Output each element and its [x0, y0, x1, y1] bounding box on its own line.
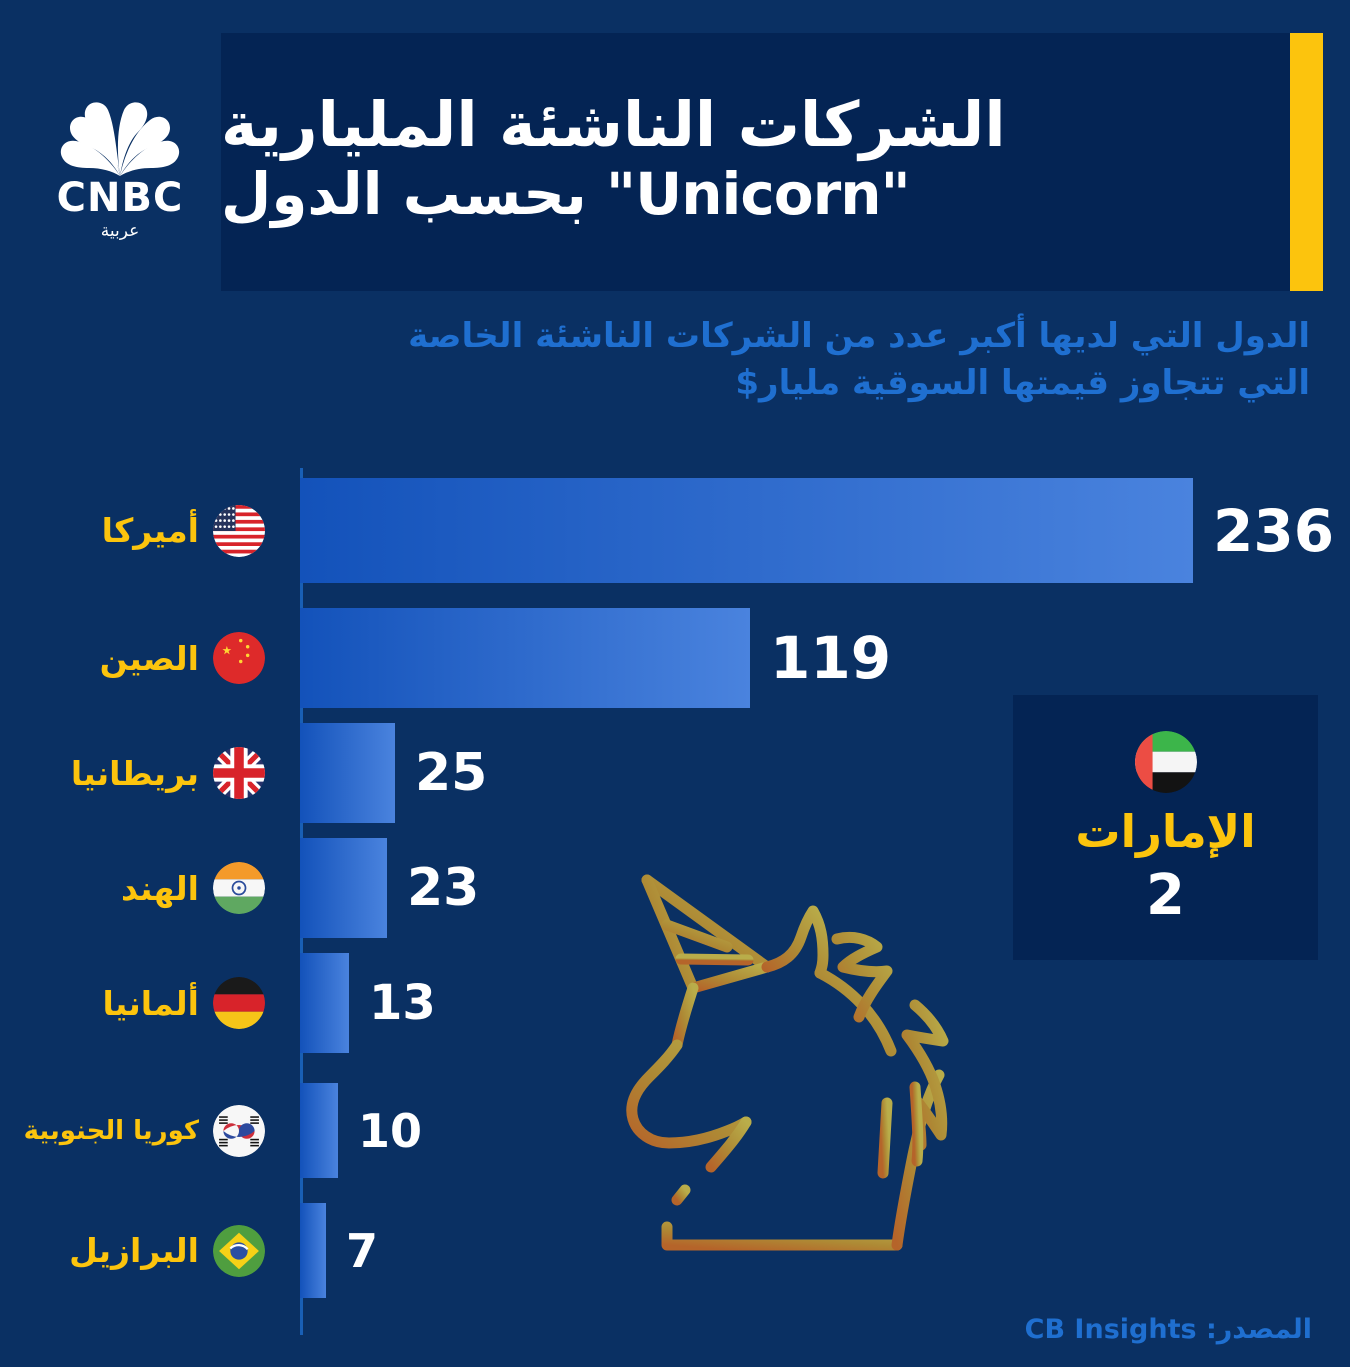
chart-bar — [300, 608, 750, 708]
chart-bar — [300, 953, 349, 1053]
uae-value: 2 — [1146, 868, 1185, 924]
chart-row: أميركا236 — [0, 478, 1350, 583]
page-title: الشركات الناشئة المليارية "Unicorn" بحسب… — [221, 33, 1281, 291]
chart-bar — [300, 838, 387, 938]
chart-row-label: أميركا — [102, 478, 265, 583]
country-name: أميركا — [102, 511, 199, 550]
subtitle-line-1: الدول التي لديها أكبر عدد من الشركات الن… — [250, 313, 1310, 360]
chart-row-label: الصين — [100, 608, 265, 708]
subtitle: الدول التي لديها أكبر عدد من الشركات الن… — [250, 313, 1310, 407]
chart-bar — [300, 1083, 338, 1178]
flag-uk-icon — [213, 747, 265, 799]
chart-bar — [300, 478, 1193, 583]
chart-row-label: بريطانيا — [71, 723, 265, 823]
chart-row-label: ألمانيا — [103, 953, 265, 1053]
subtitle-line-2: التي تتجاوز قيمتها السوقية مليار$ — [250, 360, 1310, 407]
chart-bar-value: 10 — [358, 1108, 422, 1154]
chart-row-label: البرازيل — [69, 1203, 265, 1298]
flag-south-korea-icon — [213, 1105, 265, 1157]
country-name: ألمانيا — [103, 984, 199, 1023]
country-name: البرازيل — [69, 1231, 199, 1270]
title-line-1: الشركات الناشئة المليارية — [221, 89, 1006, 161]
chart-bar-value: 119 — [770, 629, 891, 687]
chart-bar — [300, 1203, 326, 1298]
chart-bar-value: 25 — [415, 747, 487, 799]
chart-bar-value: 13 — [369, 979, 436, 1027]
flag-usa-icon — [213, 505, 265, 557]
flag-china-icon — [213, 632, 265, 684]
source-label: المصدر: CB Insights — [1025, 1314, 1312, 1345]
chart-bar-value: 23 — [407, 862, 479, 914]
country-name: كوريا الجنوبية — [24, 1116, 199, 1146]
chart-bar-value: 236 — [1213, 502, 1334, 560]
country-name: بريطانيا — [71, 754, 199, 793]
chart-row-label: كوريا الجنوبية — [24, 1083, 265, 1178]
title-line-2: "Unicorn" بحسب الدول — [221, 161, 910, 228]
chart-row-label: الهند — [121, 838, 265, 938]
cnbc-arabia-logo: CNBC عربية — [30, 100, 210, 235]
uae-callout-box: الإمارات 2 — [1013, 695, 1318, 960]
uae-country-label: الإمارات — [1075, 809, 1255, 854]
flag-uae-icon — [1135, 731, 1197, 793]
country-name: الصين — [100, 639, 199, 678]
nbc-peacock-icon — [30, 100, 210, 180]
country-name: الهند — [121, 869, 199, 908]
logo-wordmark: CNBC — [30, 178, 210, 218]
chart-row: الصين119 — [0, 608, 1350, 708]
chart-bar — [300, 723, 395, 823]
unicorn-head-icon — [615, 855, 1005, 1300]
flag-germany-icon — [213, 977, 265, 1029]
chart-bar-value: 7 — [346, 1228, 378, 1274]
flag-india-icon — [213, 862, 265, 914]
flag-brazil-icon — [213, 1225, 265, 1277]
header-accent-bar — [1290, 33, 1323, 291]
logo-arabic-label: عربية — [30, 221, 210, 241]
